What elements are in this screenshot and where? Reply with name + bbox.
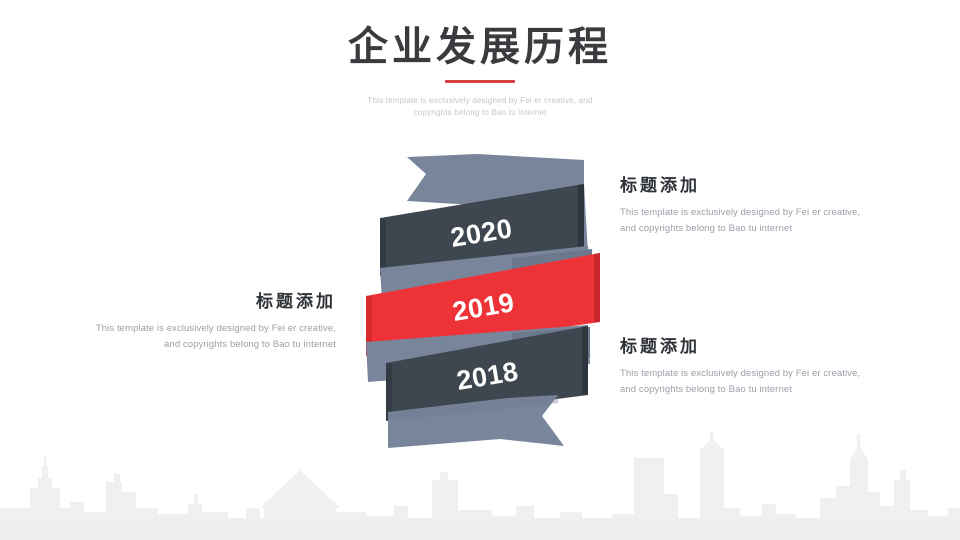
info-block-right-top-title: 标题添加 (620, 176, 868, 196)
info-block-left: 标题添加 This template is exclusively design… (88, 292, 336, 353)
info-block-right-top-body: This template is exclusively designed by… (620, 205, 868, 236)
ribbon-band-2019-right-edge (594, 253, 600, 322)
skyline-ground-band (0, 518, 960, 540)
title-accent-rule (445, 80, 515, 83)
slide-subtitle: This template is exclusively designed by… (350, 95, 610, 119)
info-block-right-bottom-body: This template is exclusively designed by… (620, 366, 868, 397)
info-block-right-bottom: 标题添加 This template is exclusively design… (620, 337, 868, 398)
info-block-right-bottom-title: 标题添加 (620, 337, 868, 357)
city-skyline-silhouette (0, 430, 960, 540)
timeline-ribbon: 2020 2019 2018 (352, 150, 622, 452)
ribbon-band-2020-left-edge (380, 218, 386, 276)
ribbon-band-2020-right-edge (578, 184, 584, 253)
ribbon-band-2018-right-edge (582, 326, 588, 395)
slide-header: 企业发展历程 This template is exclusively desi… (0, 24, 960, 119)
info-block-left-title: 标题添加 (88, 292, 336, 312)
info-block-left-body: This template is exclusively designed by… (88, 321, 336, 352)
slide-canvas: 企业发展历程 This template is exclusively desi… (0, 0, 960, 540)
info-block-right-top: 标题添加 This template is exclusively design… (620, 176, 868, 237)
page-title: 企业发展历程 (0, 24, 960, 70)
